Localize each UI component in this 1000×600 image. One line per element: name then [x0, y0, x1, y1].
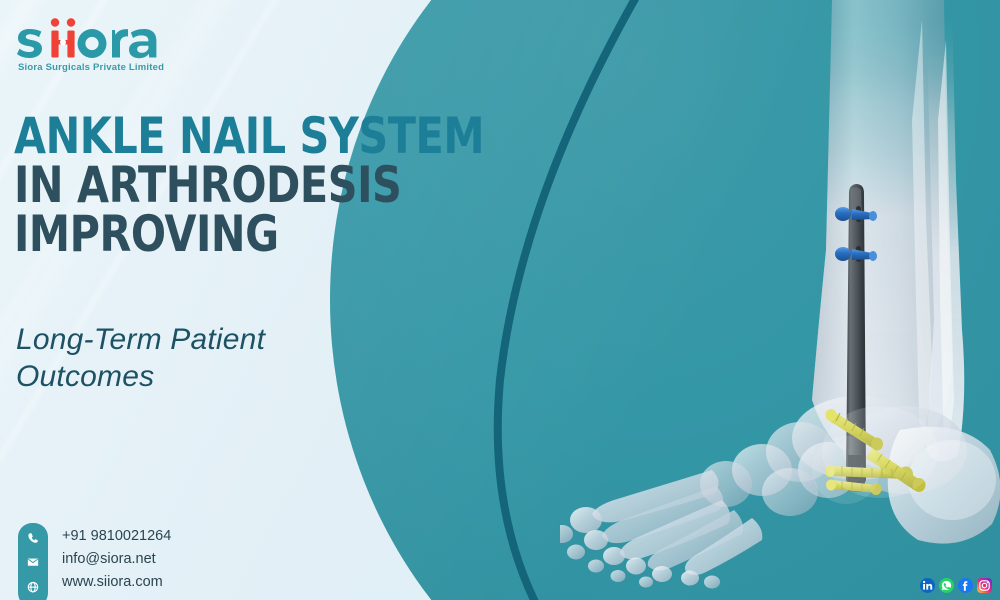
- subheadline-line-2: Outcomes: [16, 359, 436, 396]
- teal-panel: [330, 0, 1000, 600]
- banner-root: Siora Surgicals Private Limited ANKLE NA…: [0, 0, 1000, 600]
- headline: ANKLE NAIL SYSTEM IN ARTHRODESIS IMPROVI…: [14, 112, 554, 259]
- social-links: [920, 578, 992, 593]
- contact-website[interactable]: www.siiora.com: [62, 573, 171, 591]
- headline-line-2: IN ARTHRODESIS: [14, 161, 511, 210]
- contact-details: +91 9810021264 info@siora.net www.siiora…: [62, 523, 171, 600]
- envelope-icon: [26, 556, 40, 568]
- headline-line-1: ANKLE NAIL SYSTEM: [14, 112, 511, 161]
- logo-tagline: Siora Surgicals Private Limited: [18, 62, 164, 73]
- contact-block: +91 9810021264 info@siora.net www.siiora…: [18, 523, 171, 600]
- contact-email[interactable]: info@siora.net: [62, 550, 171, 568]
- subheadline: Long-Term Patient Outcomes: [16, 322, 436, 395]
- contact-icon-bar: [18, 523, 48, 600]
- logo[interactable]: Siora Surgicals Private Limited: [16, 12, 196, 76]
- phone-icon: [26, 532, 40, 544]
- contact-phone[interactable]: +91 9810021264: [62, 527, 171, 545]
- globe-icon: [26, 581, 40, 593]
- headline-line-3: IMPROVING: [14, 210, 511, 259]
- whatsapp-icon[interactable]: [939, 578, 954, 593]
- facebook-icon[interactable]: [958, 578, 973, 593]
- linkedin-icon[interactable]: [920, 578, 935, 593]
- logo-mark: [16, 12, 196, 62]
- instagram-icon[interactable]: [977, 578, 992, 593]
- subheadline-line-1: Long-Term Patient: [16, 322, 436, 359]
